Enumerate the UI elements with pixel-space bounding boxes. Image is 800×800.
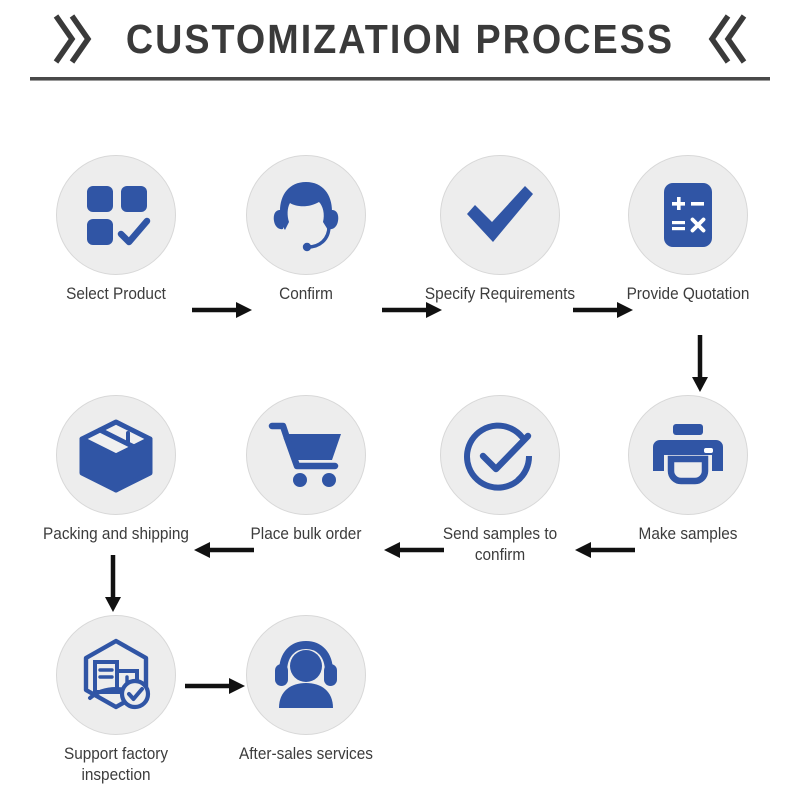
step-support-factory-inspection[interactable]: Support factory inspection — [28, 615, 204, 786]
process-flow: Select Product Confirm Specify Requireme… — [0, 90, 800, 800]
step-label: Specify Requirements — [418, 284, 582, 305]
printer-icon — [650, 418, 726, 492]
headset-person-icon — [266, 638, 346, 712]
step-confirm[interactable]: Confirm — [218, 155, 394, 305]
page-title: CUSTOMIZATION PROCESS — [126, 16, 674, 63]
package-box-icon — [76, 417, 156, 493]
step-provide-quotation[interactable]: Provide Quotation — [600, 155, 776, 305]
circle-check-outline-icon — [460, 415, 540, 495]
step-icon-circle — [246, 155, 366, 275]
step-icon-circle — [56, 395, 176, 515]
step-label: Packing and shipping — [34, 524, 198, 545]
step-after-sales-services[interactable]: After-sales services — [218, 615, 394, 765]
calculator-icon — [651, 178, 725, 252]
step-label: Support factory inspection — [34, 744, 198, 786]
step-select-product[interactable]: Select Product — [28, 155, 204, 305]
page-header: CUSTOMIZATION PROCESS — [0, 0, 800, 90]
double-chevron-right-icon — [50, 13, 92, 65]
step-label: Provide Quotation — [606, 284, 770, 305]
double-chevron-left-icon — [708, 13, 750, 65]
checkmark-icon — [461, 176, 539, 254]
step-label: Select Product — [34, 284, 198, 305]
step-icon-circle — [246, 395, 366, 515]
shopping-cart-icon — [267, 418, 345, 492]
title-row: CUSTOMIZATION PROCESS — [0, 8, 800, 70]
step-icon-circle — [440, 155, 560, 275]
step-icon-circle — [246, 615, 366, 735]
step-make-samples[interactable]: Make samples — [600, 395, 776, 545]
step-icon-circle — [56, 155, 176, 275]
grid-squares-check-icon — [79, 178, 153, 252]
shield-factory-check-icon — [76, 636, 156, 714]
step-label: Confirm — [224, 284, 388, 305]
step-icon-circle — [440, 395, 560, 515]
title-divider — [30, 77, 770, 81]
headset-agent-icon — [265, 174, 347, 256]
step-place-bulk-order[interactable]: Place bulk order — [218, 395, 394, 545]
step-icon-circle — [628, 155, 748, 275]
arrow-down-icon — [688, 335, 712, 393]
step-icon-circle — [56, 615, 176, 735]
step-packing-and-shipping[interactable]: Packing and shipping — [28, 395, 204, 545]
step-specify-requirements[interactable]: Specify Requirements — [412, 155, 588, 305]
step-label: After-sales services — [224, 744, 388, 765]
arrow-down-icon — [101, 555, 125, 613]
step-icon-circle — [628, 395, 748, 515]
